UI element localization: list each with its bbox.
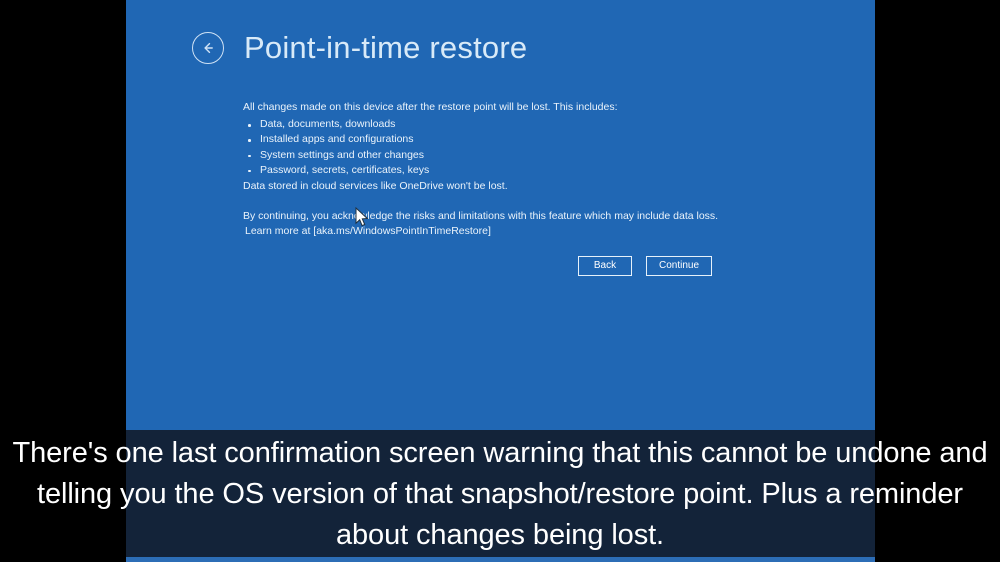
continue-button[interactable]: Continue	[646, 256, 712, 276]
consent-text: By continuing, you acknowledge the risks…	[243, 209, 763, 224]
paragraph-spacer	[243, 194, 763, 209]
caption-text: There's one last confirmation screen war…	[0, 433, 1000, 556]
body-copy: All changes made on this device after th…	[243, 100, 763, 240]
page-header: Point-in-time restore	[192, 30, 527, 66]
point-in-time-restore-panel: Point-in-time restore All changes made o…	[126, 0, 875, 430]
data-loss-list: Data, documents, downloads Installed app…	[243, 117, 763, 178]
list-item: Installed apps and configurations	[243, 132, 763, 147]
list-item: Password, secrets, certificates, keys	[243, 163, 763, 178]
intro-text: All changes made on this device after th…	[243, 100, 763, 115]
page-title: Point-in-time restore	[244, 30, 527, 66]
back-arrow-circle-icon[interactable]	[192, 32, 224, 64]
action-button-row: Back Continue	[578, 256, 712, 276]
bottom-accent-strip	[126, 557, 875, 562]
list-item: Data, documents, downloads	[243, 117, 763, 132]
list-item: System settings and other changes	[243, 148, 763, 163]
learn-more-text: Learn more at [aka.ms/WindowsPointInTime…	[243, 224, 763, 239]
cloud-note-text: Data stored in cloud services like OneDr…	[243, 179, 763, 194]
back-button[interactable]: Back	[578, 256, 632, 276]
